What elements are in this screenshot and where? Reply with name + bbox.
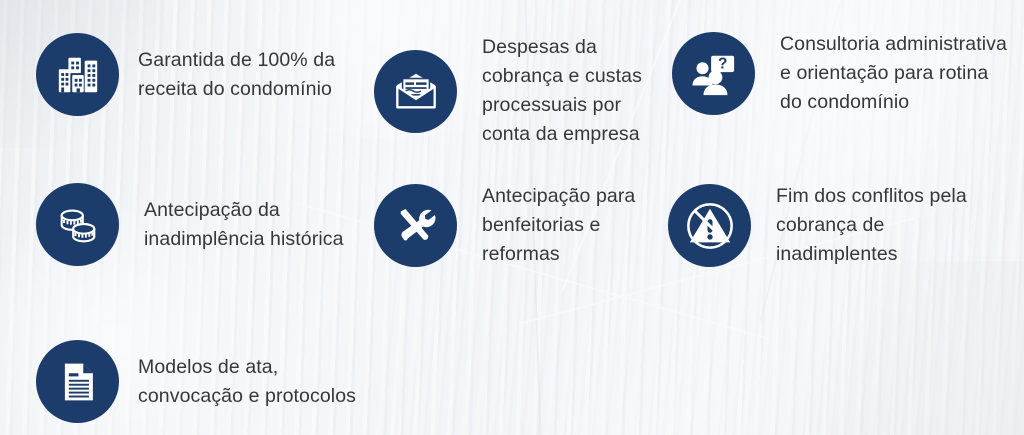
benefit-label: Antecipação da inadimplência histórica: [144, 196, 344, 254]
people-question-icon: ?: [691, 51, 737, 97]
benefit-label: Fim dos conflitos pela cobrança de inadi…: [776, 182, 967, 269]
svg-text:?: ?: [717, 55, 726, 72]
tools-icon: [394, 204, 438, 248]
benefit-label: Antecipação para benfeitorias e reformas: [482, 182, 635, 269]
buildings-icon: [55, 52, 101, 98]
envelope-letter-icon-badge: [374, 50, 457, 133]
benefit-label: Modelos de ata, convocação e protocolos: [138, 353, 356, 411]
buildings-icon-badge: [36, 33, 119, 116]
benefit-label: Garantida de 100% da receita do condomín…: [138, 46, 335, 104]
benefit-item-garantia-receita: Garantida de 100% da receita do condomín…: [36, 33, 335, 116]
coins-stack-icon: [55, 202, 101, 248]
no-warning-icon-badge: [668, 184, 751, 267]
benefit-label: Consultoria administrativa e orientação …: [780, 30, 1007, 117]
benefit-item-antecipacao-inadimplencia: Antecipação da inadimplência histórica: [36, 183, 344, 266]
benefit-item-antecipacao-benfeitorias: Antecipação para benfeitorias e reformas: [374, 182, 635, 269]
document-icon-badge: [36, 340, 119, 423]
benefit-item-modelos-ata: Modelos de ata, convocação e protocolos: [36, 340, 356, 423]
benefit-item-fim-conflitos: Fim dos conflitos pela cobrança de inadi…: [668, 182, 967, 269]
coins-stack-icon-badge: [36, 183, 119, 266]
envelope-letter-icon: [393, 68, 439, 114]
tools-icon-badge: [374, 184, 457, 267]
benefits-grid: Garantida de 100% da receita do condomín…: [0, 0, 1024, 435]
benefit-item-consultoria-administrativa: ? Consultoria administrativa e orientaçã…: [672, 30, 1007, 117]
no-warning-icon: [685, 201, 735, 251]
benefit-item-despesas-cobranca: Despesas da cobrança e custas processuai…: [374, 33, 642, 149]
benefit-label: Despesas da cobrança e custas processuai…: [482, 33, 642, 149]
people-question-icon-badge: ?: [672, 32, 755, 115]
document-icon: [57, 361, 99, 403]
